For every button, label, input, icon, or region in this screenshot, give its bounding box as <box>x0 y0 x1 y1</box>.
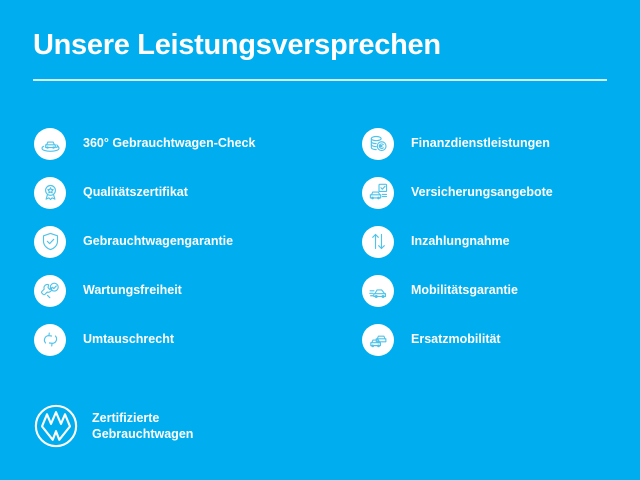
feature-item[interactable]: Umtauschrecht <box>34 315 334 364</box>
feature-label: Wartungsfreiheit <box>83 283 182 298</box>
car-insurance-document-icon <box>362 177 394 209</box>
feature-item[interactable]: Qualitätszertifikat <box>34 168 334 217</box>
volkswagen-logo <box>33 403 79 449</box>
coins-euro-icon <box>362 128 394 160</box>
feature-label: Mobilitätsgarantie <box>411 283 518 298</box>
feature-item[interactable]: Wartungsfreiheit <box>34 266 334 315</box>
title-divider <box>33 79 607 81</box>
features-column-right: Finanzdienstleistungen Versicherungsange… <box>362 119 624 364</box>
brand-text-line2: Gebrauchtwagen <box>92 426 193 442</box>
feature-label: Gebrauchtwagengarantie <box>83 234 233 249</box>
two-cars-icon <box>362 324 394 356</box>
feature-label: Inzahlungnahme <box>411 234 510 249</box>
car-360-check-icon <box>34 128 66 160</box>
arrows-up-down-icon <box>362 226 394 258</box>
feature-label: Versicherungsangebote <box>411 185 553 200</box>
feature-item[interactable]: Inzahlungnahme <box>362 217 624 266</box>
feature-item[interactable]: Ersatzmobilität <box>362 315 624 364</box>
wrench-check-icon <box>34 275 66 307</box>
promise-panel: Unsere Leistungsversprechen 360° Gebrauc <box>0 0 640 480</box>
car-moving-check-icon <box>362 275 394 307</box>
feature-label: Umtauschrecht <box>83 332 174 347</box>
feature-item[interactable]: Versicherungsangebote <box>362 168 624 217</box>
feature-item[interactable]: Gebrauchtwagengarantie <box>34 217 334 266</box>
shield-check-icon <box>34 226 66 258</box>
features-column-left: 360° Gebrauchtwagen-Check Qualitätszerti… <box>34 119 334 364</box>
feature-item[interactable]: Mobilitätsgarantie <box>362 266 624 315</box>
feature-label: Qualitätszertifikat <box>83 185 188 200</box>
feature-item[interactable]: Finanzdienstleistungen <box>362 119 624 168</box>
exchange-arrows-icon <box>34 324 66 356</box>
brand-text: Zertifizierte Gebrauchtwagen <box>92 410 193 442</box>
quality-award-rosette-icon <box>34 177 66 209</box>
page-title: Unsere Leistungsversprechen <box>33 28 607 62</box>
header: Unsere Leistungsversprechen <box>33 28 607 81</box>
feature-label: Ersatzmobilität <box>411 332 501 347</box>
feature-label: 360° Gebrauchtwagen-Check <box>83 136 255 151</box>
brand-text-line1: Zertifizierte <box>92 410 193 426</box>
features-columns: 360° Gebrauchtwagen-Check Qualitätszerti… <box>0 119 640 364</box>
feature-label: Finanzdienstleistungen <box>411 136 550 151</box>
brand-lockup: Zertifizierte Gebrauchtwagen <box>33 403 193 449</box>
feature-item[interactable]: 360° Gebrauchtwagen-Check <box>34 119 334 168</box>
